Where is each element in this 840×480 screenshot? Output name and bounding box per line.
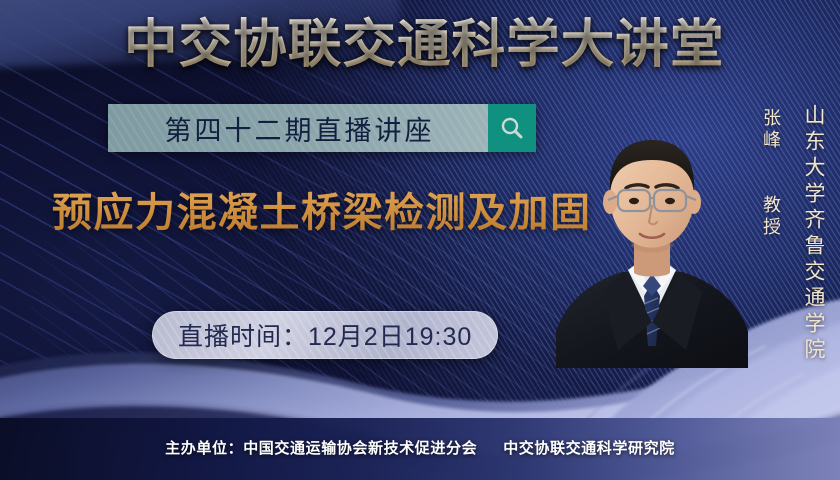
footer-organizer-primary: 中国交通运输协会新技术促进分会 [243, 440, 477, 457]
speaker-name: 张峰 [758, 108, 784, 152]
speaker-role: 教授 [758, 195, 784, 239]
search-icon [499, 115, 525, 141]
broadcast-time-label: 直播时间：12月2日19:30 [178, 317, 472, 353]
page-title: 中交协联交通科学大讲堂 [124, 14, 725, 76]
live-lecture-poster: 中交协联交通科学大讲堂 第四十二期直播讲座 预应力混凝土桥梁检测及加固 直播时间… [0, 0, 840, 480]
broadcast-time-badge: 直播时间：12月2日19:30 [152, 311, 498, 359]
footer-prefix: 主办单位： [165, 440, 243, 457]
speaker-affiliation: 山东大学齐鲁交通学院 [798, 104, 828, 364]
footer-organizers: 主办单位：中国交通运输协会新技术促进分会中交协联交通科学研究院 [0, 437, 840, 458]
footer-organizer-secondary: 中交协联交通科学研究院 [503, 440, 675, 457]
episode-subtitle-label: 第四十二期直播讲座 [162, 109, 435, 148]
episode-subtitle-bar: 第四十二期直播讲座 [108, 104, 536, 152]
episode-subtitle-fill: 第四十二期直播讲座 [108, 104, 488, 152]
search-icon-box[interactable] [488, 104, 536, 152]
lecture-topic-title: 预应力混凝土桥梁检测及加固 [52, 188, 592, 238]
